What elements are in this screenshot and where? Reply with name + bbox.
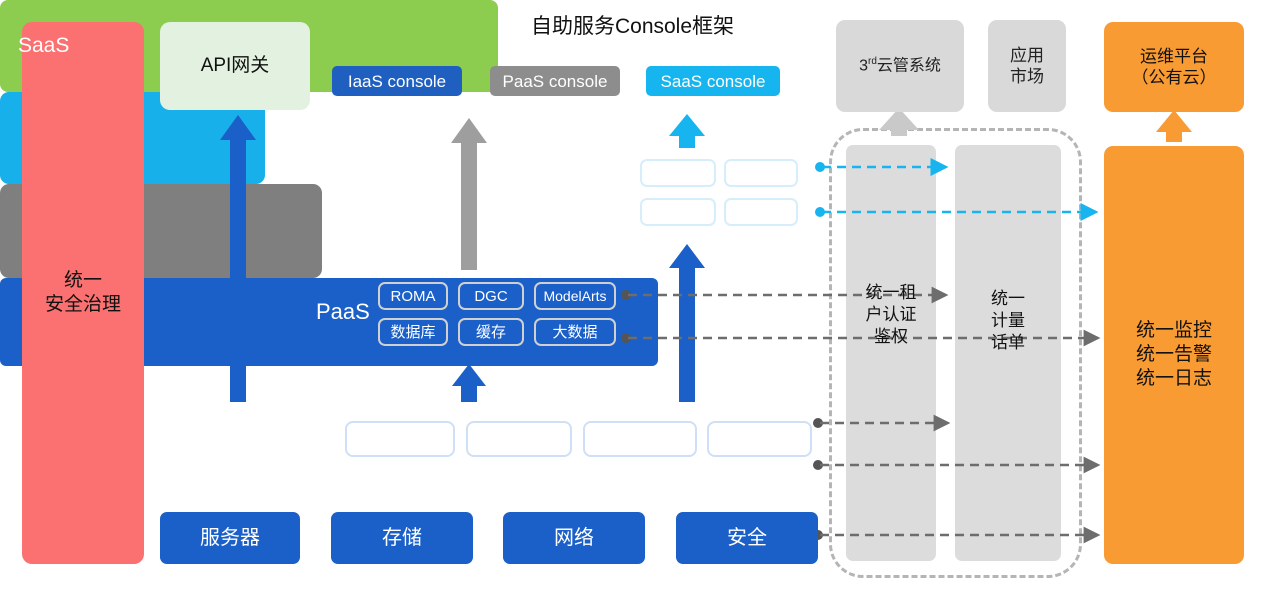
link-security-to-ops-platform <box>813 530 1098 540</box>
paas-chip-roma[interactable]: ROMA <box>378 282 448 310</box>
link-saas-to-ops-platform <box>815 207 1096 217</box>
third-party-label: 3rd云管系统 <box>859 56 941 76</box>
saas-chip-desktop-cloud[interactable]: 桌面云 <box>724 198 798 226</box>
paas-chip-modelarts[interactable]: ModelArts <box>534 282 616 310</box>
arrow-infra-to-paas <box>452 364 486 402</box>
ops-platform-box[interactable]: 运维平台（公有云） <box>1104 22 1244 112</box>
unified-metering-label: 统一计量话单 <box>955 288 1061 354</box>
resource-box-security[interactable]: 安全 <box>676 512 818 564</box>
paas-chip-dgc[interactable]: DGC <box>458 282 524 310</box>
app-marketplace-box[interactable]: 应用市场 <box>988 20 1066 112</box>
resource-box-network[interactable]: 网络 <box>503 512 645 564</box>
resource-box-storage[interactable]: 存储 <box>331 512 473 564</box>
third-party-cloud-mgmt-box[interactable]: 3rd云管系统 <box>836 20 964 112</box>
console-frame-title: 自助服务Console框架 <box>0 10 1265 40</box>
arrow-infra-to-apigateway <box>220 115 256 402</box>
architecture-diagram: 统一租户认证鉴权 统一计量话单 统一安全治理 API网关 自助服务Console… <box>0 0 1265 605</box>
paas-chip-bigdata[interactable]: 大数据 <box>534 318 616 346</box>
paas-layer-label: PaaS <box>316 299 370 325</box>
unified-auth-label: 统一租户认证鉴权 <box>846 282 936 348</box>
monitoring-panel[interactable]: 统一监控统一告警统一日志 <box>1104 146 1244 564</box>
saas-chip-blockchain[interactable]: 区块链 <box>640 159 716 187</box>
saas-layer-label: SaaS <box>18 34 69 58</box>
infra-chip-cce[interactable]: CCE <box>707 421 812 457</box>
link-infra-to-auth <box>813 418 948 428</box>
arrow-infra-to-saas <box>669 244 705 402</box>
paas-chip-database[interactable]: 数据库 <box>378 318 448 346</box>
infra-chip-storage[interactable]: Storage <box>466 421 572 457</box>
paas-chip-cache[interactable]: 缓存 <box>458 318 524 346</box>
unified-infrastructure-label: 统一基础设施服务 <box>176 427 328 454</box>
saas-chip-iot[interactable]: IoT <box>724 159 798 187</box>
resource-box-server[interactable]: 服务器 <box>160 512 300 564</box>
paas-console-chip[interactable]: PaaS console <box>490 66 620 96</box>
link-infra-to-ops-platform <box>813 460 1098 470</box>
saas-console-chip[interactable]: SaaS console <box>646 66 780 96</box>
iaas-console-chip[interactable]: IaaS console <box>332 66 462 96</box>
arrow-saas-to-saas-console <box>669 114 705 148</box>
infra-chip-network[interactable]: Network <box>583 421 697 457</box>
link-saas-to-metering <box>815 162 946 172</box>
arrow-to-ops-platform <box>1156 110 1192 142</box>
arrow-paas-to-console <box>451 118 487 270</box>
infra-chip-compute[interactable]: Compute <box>345 421 455 457</box>
unified-security-governance-panel[interactable]: 统一安全治理 <box>22 22 144 564</box>
saas-chip-video-cloud[interactable]: 视频云 <box>640 198 716 226</box>
arrow-to-third-party <box>879 108 919 136</box>
